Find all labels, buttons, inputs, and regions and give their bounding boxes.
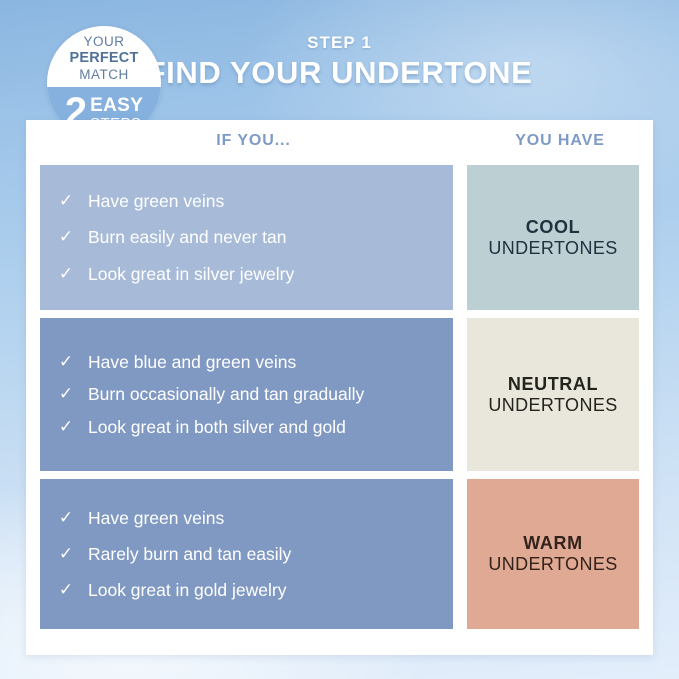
badge-top-text: YOUR PERFECT MATCH — [47, 34, 161, 83]
result-subtitle: UNDERTONES — [488, 554, 617, 575]
column-header-if-you: IF YOU... — [40, 132, 467, 150]
result-swatch-warm: WARM UNDERTONES — [467, 479, 639, 629]
content-card: IF YOU... YOU HAVE ✓ Have green veins ✓ … — [26, 120, 653, 655]
result-swatch-cool: COOL UNDERTONES — [467, 165, 639, 310]
badge-line-2: PERFECT — [47, 50, 161, 67]
criteria-item: ✓ Burn easily and never tan — [58, 219, 439, 255]
criteria-panel-cool: ✓ Have green veins ✓ Burn easily and nev… — [40, 165, 453, 310]
badge-word-easy: EASY — [90, 96, 143, 115]
criteria-text: Have green veins — [88, 507, 439, 529]
badge-line-3: MATCH — [47, 67, 161, 83]
result-subtitle: UNDERTONES — [488, 395, 617, 416]
check-icon: ✓ — [58, 263, 74, 284]
check-icon: ✓ — [58, 351, 74, 372]
criteria-text: Have blue and green veins — [88, 351, 439, 373]
criteria-item: ✓ Rarely burn and tan easily — [58, 536, 439, 572]
criteria-item: ✓ Have green veins — [58, 183, 439, 219]
criteria-item: ✓ Have green veins — [58, 500, 439, 536]
check-icon: ✓ — [58, 190, 74, 211]
undertone-row-warm: ✓ Have green veins ✓ Rarely burn and tan… — [26, 479, 653, 629]
undertone-row-neutral: ✓ Have blue and green veins ✓ Burn occas… — [26, 318, 653, 471]
criteria-panel-warm: ✓ Have green veins ✓ Rarely burn and tan… — [40, 479, 453, 629]
result-subtitle: UNDERTONES — [488, 238, 617, 259]
undertone-rows: ✓ Have green veins ✓ Burn easily and nev… — [26, 165, 653, 637]
undertone-infographic: STEP 1 FIND YOUR UNDERTONE YOUR PERFECT … — [0, 0, 679, 679]
criteria-item: ✓ Look great in silver jewelry — [58, 256, 439, 292]
criteria-item: ✓ Burn occasionally and tan gradually — [58, 378, 439, 410]
criteria-panel-neutral: ✓ Have blue and green veins ✓ Burn occas… — [40, 318, 453, 471]
check-icon: ✓ — [58, 543, 74, 564]
check-icon: ✓ — [58, 507, 74, 528]
badge-line-1: YOUR — [47, 34, 161, 50]
criteria-item: ✓ Have blue and green veins — [58, 346, 439, 378]
column-header-you-have: YOU HAVE — [467, 132, 653, 150]
result-title: COOL — [526, 217, 580, 238]
check-icon: ✓ — [58, 579, 74, 600]
criteria-text: Look great in gold jewelry — [88, 579, 439, 601]
check-icon: ✓ — [58, 383, 74, 404]
criteria-text: Look great in silver jewelry — [88, 263, 439, 285]
criteria-text: Burn easily and never tan — [88, 226, 439, 248]
result-title: NEUTRAL — [508, 374, 598, 395]
result-title: WARM — [523, 533, 582, 554]
result-swatch-neutral: NEUTRAL UNDERTONES — [467, 318, 639, 471]
criteria-text: Rarely burn and tan easily — [88, 543, 439, 565]
column-headers: IF YOU... YOU HAVE — [26, 132, 653, 164]
undertone-row-cool: ✓ Have green veins ✓ Burn easily and nev… — [26, 165, 653, 310]
criteria-text: Burn occasionally and tan gradually — [88, 383, 439, 405]
check-icon: ✓ — [58, 416, 74, 437]
check-icon: ✓ — [58, 226, 74, 247]
criteria-item: ✓ Look great in gold jewelry — [58, 572, 439, 608]
criteria-text: Look great in both silver and gold — [88, 416, 439, 438]
criteria-text: Have green veins — [88, 190, 439, 212]
criteria-item: ✓ Look great in both silver and gold — [58, 411, 439, 443]
